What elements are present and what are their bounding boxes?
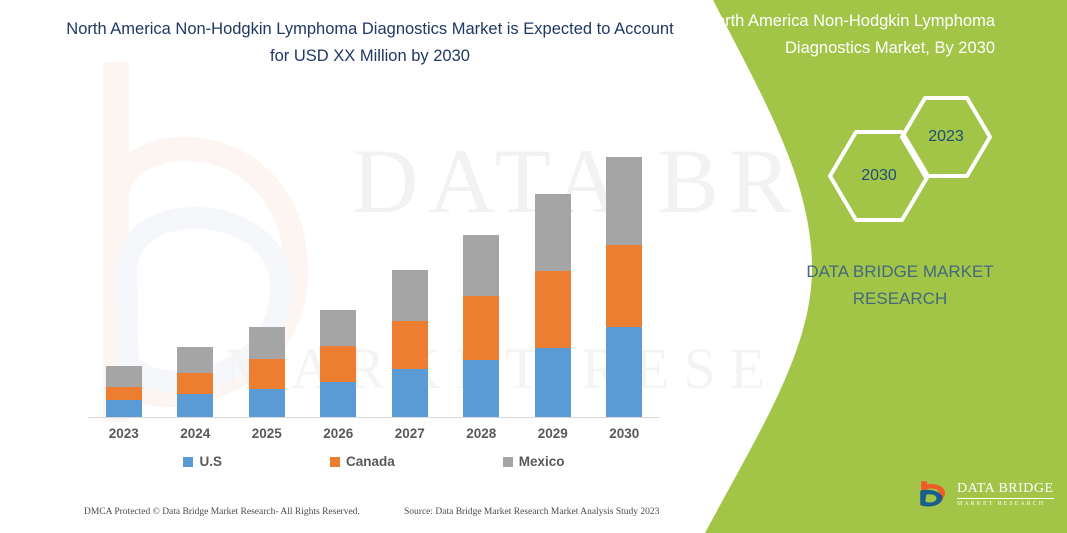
x-axis-label-2024: 2024 (160, 426, 232, 441)
bar-segment-u-s-2028 (463, 360, 499, 418)
bar-stack (177, 347, 213, 418)
x-axis-label-2025: 2025 (231, 426, 303, 441)
bar-segment-canada-2028 (463, 296, 499, 360)
x-axis-label-2026: 2026 (303, 426, 375, 441)
bar-segment-mexico-2024 (177, 347, 213, 373)
legend-swatch-icon (330, 457, 340, 467)
legend-swatch-icon (183, 457, 193, 467)
infographic-root: DATA BRIDGE MARKET RESEARCH North Americ… (0, 0, 1067, 533)
x-axis-label-2030: 2030 (589, 426, 661, 441)
bar-series-group (88, 140, 660, 418)
bar-segment-u-s-2026 (320, 382, 356, 418)
hexagon-2030-label: 2030 (861, 167, 897, 185)
bar-segment-u-s-2023 (106, 400, 142, 418)
bar-group-2025 (231, 140, 303, 418)
bar-segment-u-s-2025 (249, 389, 285, 418)
bar-segment-canada-2027 (392, 321, 428, 369)
bar-group-2028 (446, 140, 518, 418)
green-panel-title: North America Non-Hodgkin Lymphoma Diagn… (695, 8, 995, 62)
x-axis-label-2029: 2029 (517, 426, 589, 441)
bar-segment-mexico-2026 (320, 310, 356, 346)
bar-segment-u-s-2030 (606, 327, 642, 418)
bar-segment-u-s-2024 (177, 394, 213, 418)
bar-segment-mexico-2029 (535, 194, 571, 271)
hexagon-2030: 2030 (826, 128, 932, 224)
data-bridge-mark-icon (916, 477, 950, 511)
bar-group-2026 (303, 140, 375, 418)
x-axis-label-2023: 2023 (88, 426, 160, 441)
bar-segment-mexico-2025 (249, 327, 285, 359)
bar-stack (249, 327, 285, 418)
x-axis-tick-labels: 20232024202520262027202820292030 (88, 426, 660, 441)
footer-copyright: DMCA Protected © Data Bridge Market Rese… (84, 507, 404, 517)
logo-tagline: MARKET RESEARCH (957, 501, 1054, 507)
bar-segment-canada-2023 (106, 387, 142, 400)
x-axis-label-2028: 2028 (446, 426, 518, 441)
bar-group-2023 (88, 140, 160, 418)
green-panel-content: North America Non-Hodgkin Lymphoma Diagn… (713, 0, 1067, 533)
chart-panel: North America Non-Hodgkin Lymphoma Diagn… (0, 0, 720, 533)
bar-group-2024 (160, 140, 232, 418)
hexagon-group: 2023 2030 (713, 92, 1067, 202)
legend-swatch-icon (503, 457, 513, 467)
bar-segment-mexico-2028 (463, 235, 499, 296)
bar-group-2029 (517, 140, 589, 418)
logo-wordmark: DATA BRIDGE MARKET RESEARCH (957, 481, 1054, 507)
bar-segment-canada-2030 (606, 245, 642, 327)
legend-label: Mexico (519, 454, 565, 469)
chart-title: North America Non-Hodgkin Lymphoma Diagn… (60, 16, 680, 70)
bar-segment-canada-2024 (177, 373, 213, 394)
bar-segment-canada-2025 (249, 359, 285, 389)
bar-stack (606, 157, 642, 418)
x-axis-label-2027: 2027 (374, 426, 446, 441)
legend-item-canada[interactable]: Canada (330, 454, 395, 469)
legend-label: U.S (199, 454, 222, 469)
legend-label: Canada (346, 454, 395, 469)
bar-segment-u-s-2029 (535, 348, 571, 418)
hexagon-2023-label: 2023 (928, 128, 964, 146)
data-bridge-logo: DATA BRIDGE MARKET RESEARCH (916, 474, 1061, 514)
bar-group-2027 (374, 140, 446, 418)
chart-legend: U.SCanadaMexico (88, 454, 660, 469)
footer-source: Source: Data Bridge Market Research Mark… (404, 507, 659, 517)
brand-heading: DATA BRIDGE MARKET RESEARCH (760, 258, 1040, 312)
bar-segment-mexico-2027 (392, 270, 428, 321)
bar-stack (320, 310, 356, 418)
bar-segment-mexico-2030 (606, 157, 642, 245)
legend-item-mexico[interactable]: Mexico (503, 454, 565, 469)
bar-group-2030 (589, 140, 661, 418)
chart-plot-area (88, 140, 660, 418)
bar-stack (392, 270, 428, 418)
footer-bar: DMCA Protected © Data Bridge Market Rese… (84, 507, 684, 517)
bar-stack (106, 366, 142, 418)
bar-segment-canada-2026 (320, 346, 356, 382)
logo-name: DATA BRIDGE (957, 481, 1054, 499)
bar-stack (535, 194, 571, 418)
legend-item-u-s[interactable]: U.S (183, 454, 222, 469)
bar-stack (463, 235, 499, 418)
bar-segment-canada-2029 (535, 271, 571, 348)
x-axis-line (88, 417, 660, 418)
bar-segment-mexico-2023 (106, 366, 142, 387)
bar-segment-u-s-2027 (392, 369, 428, 418)
